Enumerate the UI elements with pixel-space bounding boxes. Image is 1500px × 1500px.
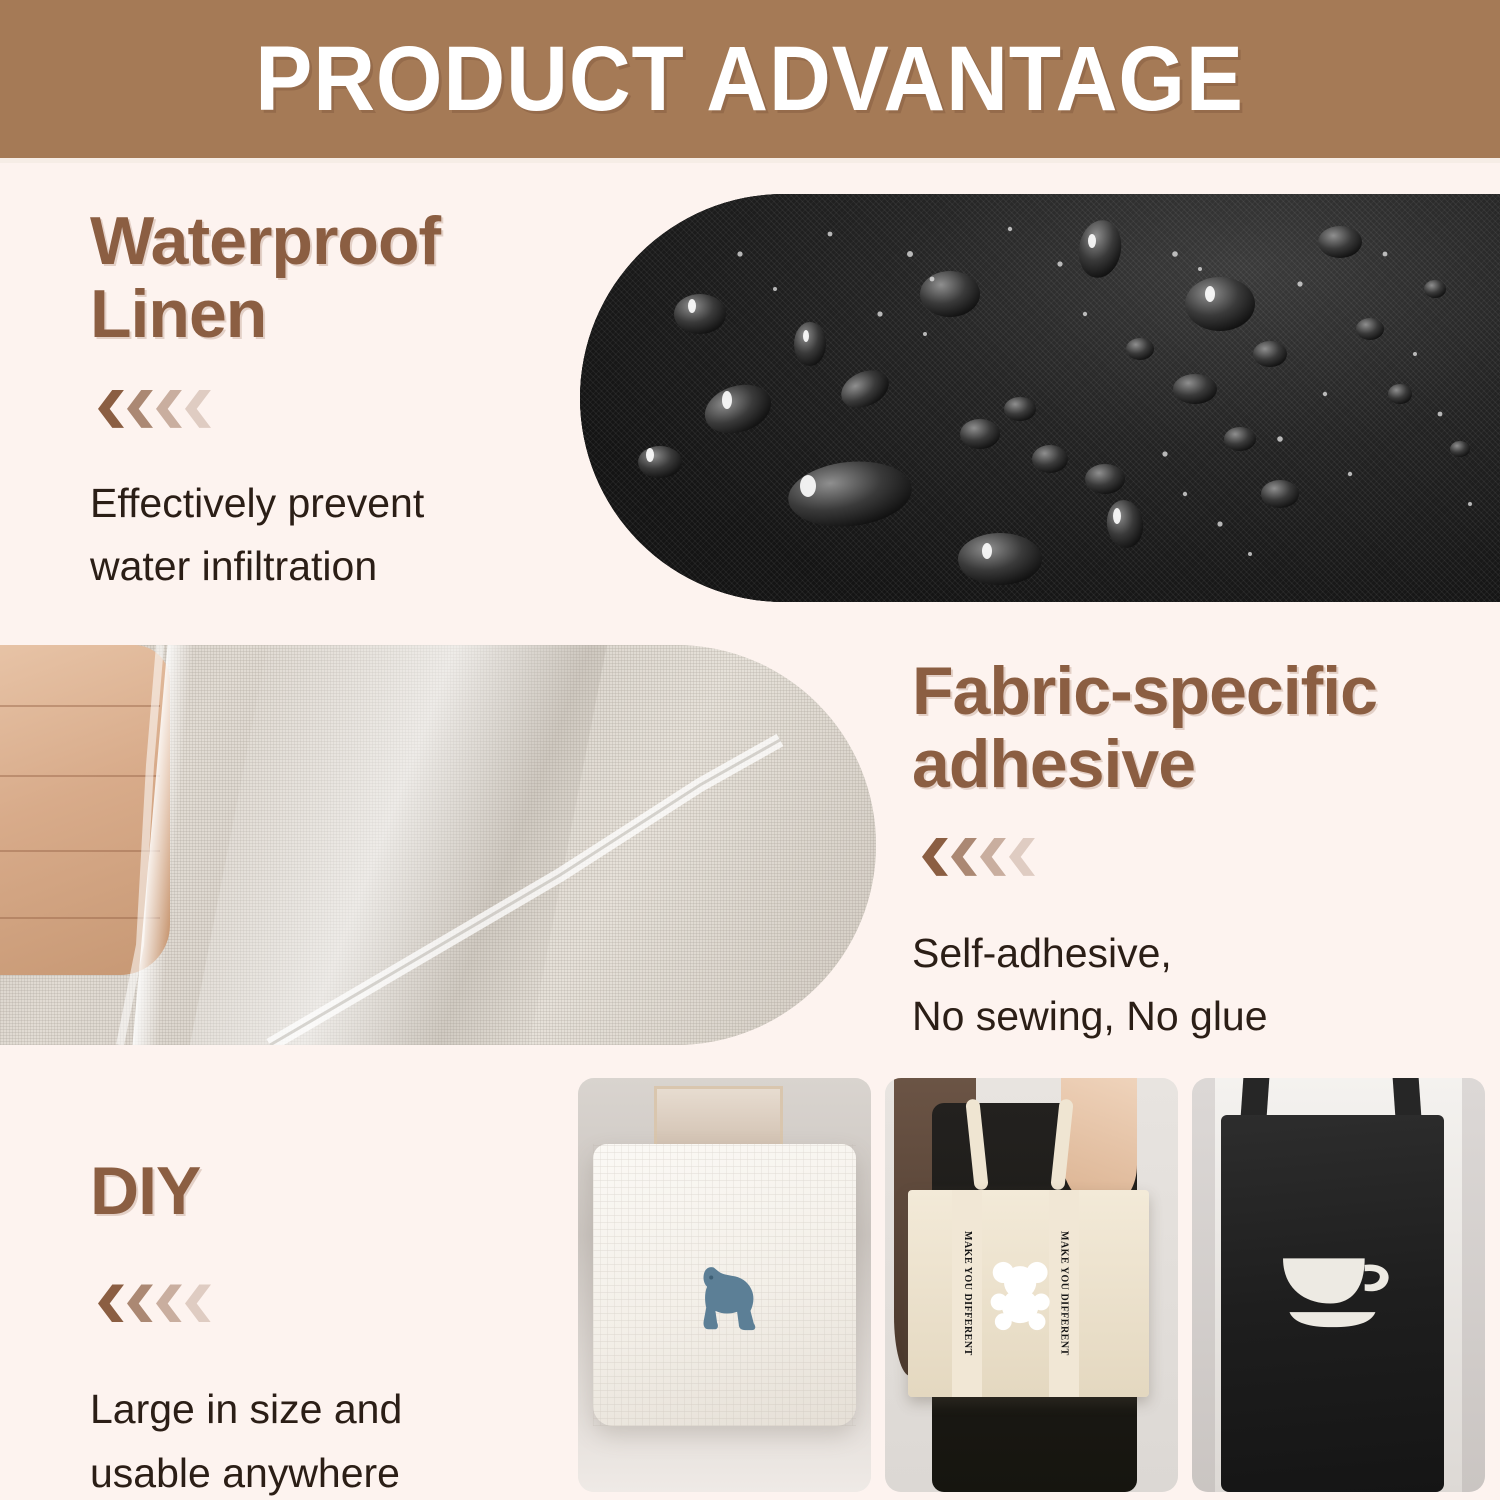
banner-divider: [0, 158, 1500, 163]
chevron-left-icon: [1009, 838, 1035, 876]
chevron-left-icon: [980, 838, 1006, 876]
body-line-2: No sewing, No glue: [912, 985, 1482, 1049]
chevron-left-icon: [185, 1284, 211, 1322]
chevron-left-icon: [156, 1284, 182, 1322]
product-advantage-infographic: PRODUCT ADVANTAGE Waterproof Linen Effec…: [0, 0, 1500, 1500]
model-arm: [1061, 1078, 1137, 1202]
body-line-1: Effectively prevent: [90, 472, 560, 536]
gallery-item-tote-bag: MAKE YOU DIFFERENT MAKE YOU DIFFERENT: [885, 1078, 1178, 1492]
bag-strap-left: MAKE YOU DIFFERENT: [952, 1190, 982, 1397]
section-adhesive-body: Self-adhesive, No sewing, No glue: [912, 922, 1482, 1049]
waterproof-fabric-photo: [580, 194, 1500, 602]
water-droplets-overlay: [580, 194, 1500, 602]
linen-frayed-seam: [0, 645, 876, 1045]
heading-line-1: DIY: [90, 1155, 550, 1228]
throw-pillow: [593, 1144, 857, 1426]
section-adhesive-text: Fabric-specific adhesive Self-adhesive, …: [912, 655, 1482, 1049]
section-adhesive-heading: Fabric-specific adhesive: [912, 655, 1482, 802]
linen-fabric-photo: [0, 645, 876, 1045]
chevron-left-icon: [922, 838, 948, 876]
chevron-left-icon: [98, 1284, 124, 1322]
section-diy-text: DIY Large in size and usable anywhere: [90, 1155, 550, 1500]
section-waterproof-body: Effectively prevent water infiltration: [90, 472, 560, 599]
heading-line-1: Waterproof: [90, 205, 560, 278]
chevron-left-icon: [127, 390, 153, 428]
chevron-left-icon: [185, 390, 211, 428]
gallery-item-apron: [1192, 1078, 1485, 1492]
chevron-left-icon: [156, 390, 182, 428]
dog-silhouette-patch: [677, 1257, 777, 1341]
strap-text-right: MAKE YOU DIFFERENT: [1059, 1231, 1070, 1356]
chevron-left-quad-icon: [98, 388, 560, 430]
chevron-left-quad-icon: [922, 836, 1482, 878]
diy-example-gallery: MAKE YOU DIFFERENT MAKE YOU DIFFERENT: [578, 1078, 1486, 1492]
section-diy-heading: DIY: [90, 1155, 550, 1228]
heading-line-2: Linen: [90, 278, 560, 351]
body-line-1: Large in size and: [90, 1378, 550, 1442]
body-line-2: usable anywhere: [90, 1442, 550, 1500]
header-banner: PRODUCT ADVANTAGE: [0, 0, 1500, 158]
heading-line-1: Fabric-specific: [912, 655, 1482, 728]
teacup-silhouette-patch: [1268, 1244, 1397, 1335]
chevron-left-icon: [951, 838, 977, 876]
gallery-item-pillow: [578, 1078, 871, 1492]
section-waterproof-heading: Waterproof Linen: [90, 205, 560, 352]
page-title: PRODUCT ADVANTAGE: [256, 33, 1245, 125]
body-line-1: Self-adhesive,: [912, 922, 1482, 986]
section-waterproof-text: Waterproof Linen Effectively prevent wat…: [90, 205, 560, 599]
chevron-left-icon: [127, 1284, 153, 1322]
section-diy-body: Large in size and usable anywhere: [90, 1378, 550, 1500]
strap-text-left: MAKE YOU DIFFERENT: [962, 1231, 973, 1356]
body-line-2: water infiltration: [90, 535, 560, 599]
bear-silhouette-patch: [985, 1248, 1055, 1339]
chevron-left-quad-icon: [98, 1282, 550, 1324]
chevron-left-icon: [98, 390, 124, 428]
heading-line-2: adhesive: [912, 728, 1482, 801]
